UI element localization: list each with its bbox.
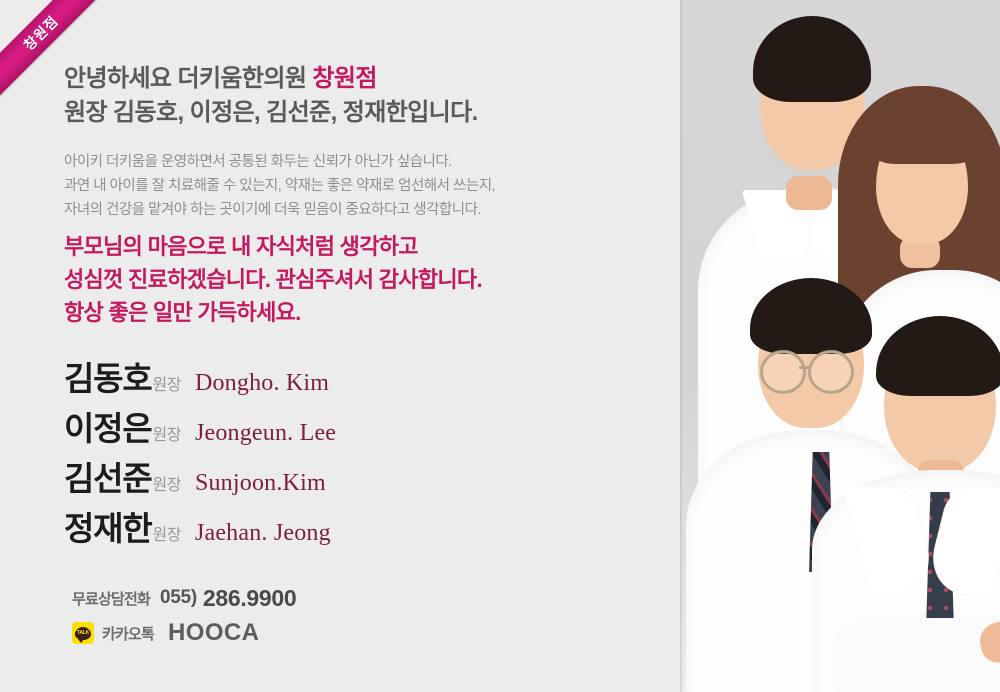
text-column: 안녕하세요 더키움한의원 창원점 원장 김동호, 이정은, 김선준, 정재한입니… <box>64 0 664 692</box>
doctor-name-ko: 김동호 <box>64 362 151 395</box>
doctor-name-ko: 이정은 <box>64 412 151 445</box>
doctor-row: 김동호 원장 Dongho. Kim <box>64 362 336 412</box>
phone-number: 286.9900 <box>203 585 297 612</box>
highlight-message: 부모님의 마음으로 내 자식처럼 생각하고 성심껏 진료하겠습니다. 관심주셔서… <box>64 230 482 329</box>
kakaotalk-icon[interactable]: TALK <box>72 622 94 644</box>
headline-line-2: 원장 김동호, 이정은, 김선준, 정재한입니다. <box>64 96 478 130</box>
doctor-name-en: Jeongeun. Lee <box>195 421 336 445</box>
doctor-title: 원장 <box>152 478 180 494</box>
corner-ribbon-strip: 창원점 <box>0 0 105 97</box>
body-copy-line-3: 자녀의 건강을 맡겨야 하는 곳이기에 더욱 믿음이 중요하다고 생각합니다. <box>64 198 495 222</box>
contact-block: 무료상담전화 055) 286.9900 TALK 카카오톡 HOOCA <box>72 584 296 648</box>
phone-label: 무료상담전화 <box>72 588 150 609</box>
photo-left-edge <box>680 0 683 692</box>
doctor-row: 이정은 원장 Jeongeun. Lee <box>64 412 336 462</box>
doctors-photo <box>680 0 1000 692</box>
highlight-line-1: 부모님의 마음으로 내 자식처럼 생각하고 <box>64 230 482 263</box>
kakaotalk-bubble: TALK <box>75 627 91 640</box>
kakao-label: 카카오톡 <box>102 623 154 644</box>
corner-ribbon: 창원점 <box>0 0 120 120</box>
kakao-row[interactable]: TALK 카카오톡 HOOCA <box>72 618 296 648</box>
doctor-title: 원장 <box>152 428 180 444</box>
doctor-title: 원장 <box>152 528 180 544</box>
headline: 안녕하세요 더키움한의원 창원점 원장 김동호, 이정은, 김선준, 정재한입니… <box>64 62 478 130</box>
doctor-name-en: Dongho. Kim <box>195 371 329 395</box>
doctor-row: 김선준 원장 Sunjoon.Kim <box>64 462 336 512</box>
hair <box>753 16 871 102</box>
doctor-list: 김동호 원장 Dongho. Kim 이정은 원장 Jeongeun. Lee … <box>64 362 336 562</box>
doctor-row: 정재한 원장 Jaehan. Jeong <box>64 512 336 562</box>
highlight-line-3: 항상 좋은 일만 가득하세요. <box>64 296 482 329</box>
headline-line-1: 안녕하세요 더키움한의원 창원점 <box>64 62 478 96</box>
doctor-name-en: Sunjoon.Kim <box>195 471 326 495</box>
doctor-name-en: Jaehan. Jeong <box>195 521 331 545</box>
doctor-name-ko: 정재한 <box>64 512 151 545</box>
phone-area-code: 055) <box>160 587 197 609</box>
eyeglasses-left-lens <box>760 350 806 394</box>
phone-row[interactable]: 무료상담전화 055) 286.9900 <box>72 584 296 612</box>
eyeglasses-right-lens <box>808 350 854 394</box>
highlight-line-2: 성심껏 진료하겠습니다. 관심주셔서 감사합니다. <box>64 263 482 296</box>
kakao-id: HOOCA <box>168 619 259 647</box>
neck <box>786 176 832 210</box>
body-copy: 아이키 더키움을 운영하면서 공통된 화두는 신뢰가 아닌가 싶습니다. 과연 … <box>64 150 495 222</box>
crossed-arms <box>830 618 1000 692</box>
doctor-name-ko: 김선준 <box>64 462 151 495</box>
clinic-promo-banner: 창원점 <box>0 0 1000 692</box>
eyeglasses-bridge <box>799 366 811 369</box>
body-copy-line-2: 과연 내 아이를 잘 치료해줄 수 있는지, 약재는 좋은 약재로 엄선해서 쓰… <box>64 174 495 198</box>
body-copy-line-1: 아이키 더키움을 운영하면서 공통된 화두는 신뢰가 아닌가 싶습니다. <box>64 150 495 174</box>
corner-ribbon-label: 창원점 <box>21 13 60 52</box>
headline-branch-accent: 창원점 <box>312 65 376 92</box>
kakaotalk-icon-text: TALK <box>77 631 89 636</box>
doctor-title: 원장 <box>152 378 180 394</box>
